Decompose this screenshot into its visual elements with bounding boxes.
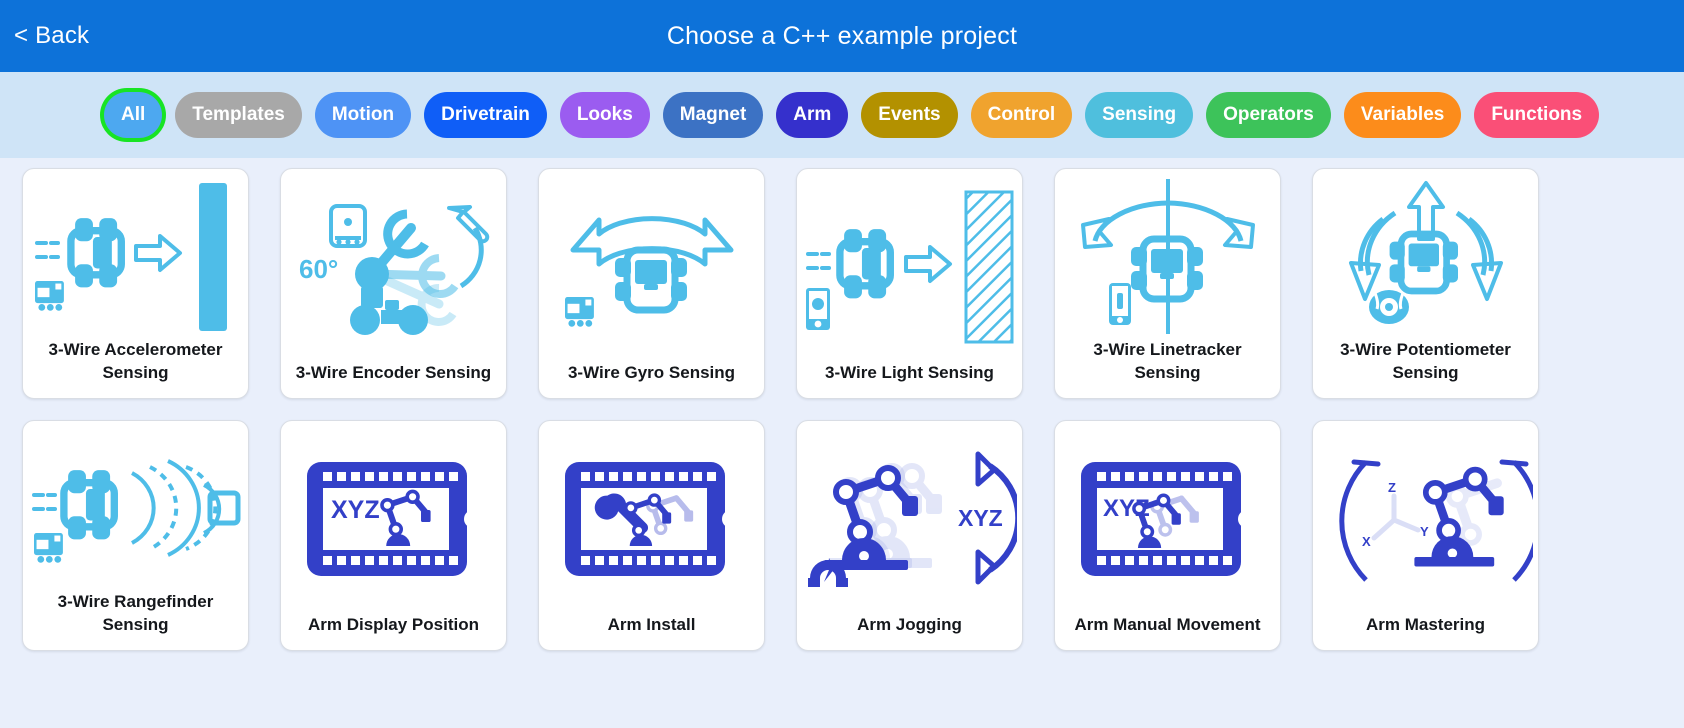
arm-encoder-icon: 60° — [281, 169, 506, 362]
filter-pill-motion[interactable]: Motion — [315, 92, 411, 138]
filter-pill-templates[interactable]: Templates — [175, 92, 302, 138]
project-card[interactable]: Z Y X Arm Mastering — [1312, 420, 1539, 651]
project-card-label: 3-Wire Light Sensing — [797, 362, 1022, 398]
project-card[interactable]: 3-Wire Potentiometer Sensing — [1312, 168, 1539, 399]
project-card[interactable]: XYZ Arm Display Position — [280, 420, 507, 651]
example-project-grid: 3-Wire Accelerometer Sensing 60° 3-Wire … — [0, 158, 1684, 651]
robot-line-arc-icon — [1055, 169, 1280, 339]
back-button[interactable]: < Back — [14, 22, 89, 50]
svg-text:XYZ: XYZ — [958, 505, 1003, 531]
filter-pill-all[interactable]: All — [104, 92, 162, 138]
project-card[interactable]: 3-Wire Linetracker Sensing — [1054, 168, 1281, 399]
filter-pill-arm[interactable]: Arm — [776, 92, 848, 138]
project-card-label: Arm Manual Movement — [1055, 614, 1280, 650]
project-card[interactable]: XYZ Arm Jogging — [796, 420, 1023, 651]
filter-pill-events[interactable]: Events — [861, 92, 957, 138]
category-filter-bar: AllTemplatesMotionDrivetrainLooksMagnetA… — [0, 72, 1684, 158]
filter-pill-operators[interactable]: Operators — [1206, 92, 1331, 138]
project-card-label: Arm Display Position — [281, 614, 506, 650]
project-card-label: Arm Jogging — [797, 614, 1022, 650]
filter-pill-control[interactable]: Control — [971, 92, 1073, 138]
svg-text:Y: Y — [1420, 524, 1429, 539]
svg-text:XYZ: XYZ — [331, 496, 380, 524]
project-card[interactable]: 3-Wire Gyro Sensing — [538, 168, 765, 399]
project-card-label: 3-Wire Linetracker Sensing — [1055, 339, 1280, 398]
robot-potentiometer-icon — [1313, 169, 1538, 339]
page-title: Choose a C++ example project — [0, 22, 1684, 51]
project-card-label: 3-Wire Gyro Sensing — [539, 362, 764, 398]
robot-sonar-icon — [23, 421, 248, 591]
card-row: 3-Wire Accelerometer Sensing 60° 3-Wire … — [22, 168, 1662, 399]
filter-pill-sensing[interactable]: Sensing — [1085, 92, 1193, 138]
filter-pill-functions[interactable]: Functions — [1474, 92, 1599, 138]
project-card[interactable]: 60° 3-Wire Encoder Sensing — [280, 168, 507, 399]
filter-pill-drivetrain[interactable]: Drivetrain — [424, 92, 547, 138]
project-card[interactable]: XYZ Arm Manual Movement — [1054, 420, 1281, 651]
svg-text:X: X — [1362, 534, 1371, 549]
robot-hatched-wall-icon — [797, 169, 1022, 362]
project-card-label: 3-Wire Encoder Sensing — [281, 362, 506, 398]
arm-magnet-xyz-icon: XYZ — [797, 421, 1022, 614]
robot-wall-arrow-icon — [23, 169, 248, 339]
project-card[interactable]: Arm Install — [538, 420, 765, 651]
project-card[interactable]: 3-Wire Light Sensing — [796, 168, 1023, 399]
screen-arm-wrench-icon — [539, 421, 764, 614]
filter-pill-looks[interactable]: Looks — [560, 92, 650, 138]
project-card[interactable]: 3-Wire Rangefinder Sensing — [22, 420, 249, 651]
project-card-label: Arm Install — [539, 614, 764, 650]
page-header: < Back Choose a C++ example project — [0, 0, 1684, 72]
filter-pill-magnet[interactable]: Magnet — [663, 92, 764, 138]
svg-text:Z: Z — [1388, 480, 1396, 495]
screen-arm-manual-icon: XYZ — [1055, 421, 1280, 614]
project-card-label: 3-Wire Potentiometer Sensing — [1313, 339, 1538, 398]
svg-text:60°: 60° — [299, 254, 338, 284]
screen-arm-xyz-icon: XYZ — [281, 421, 506, 614]
project-card-label: 3-Wire Accelerometer Sensing — [23, 339, 248, 398]
robot-turn-arrow-icon — [539, 169, 764, 362]
card-row: 3-Wire Rangefinder Sensing XYZ Arm Displ… — [22, 420, 1662, 651]
project-card[interactable]: 3-Wire Accelerometer Sensing — [22, 168, 249, 399]
filter-pill-variables[interactable]: Variables — [1344, 92, 1461, 138]
project-card-label: Arm Mastering — [1313, 614, 1538, 650]
project-card-label: 3-Wire Rangefinder Sensing — [23, 591, 248, 650]
arm-axis-arc-icon: Z Y X — [1313, 421, 1538, 614]
